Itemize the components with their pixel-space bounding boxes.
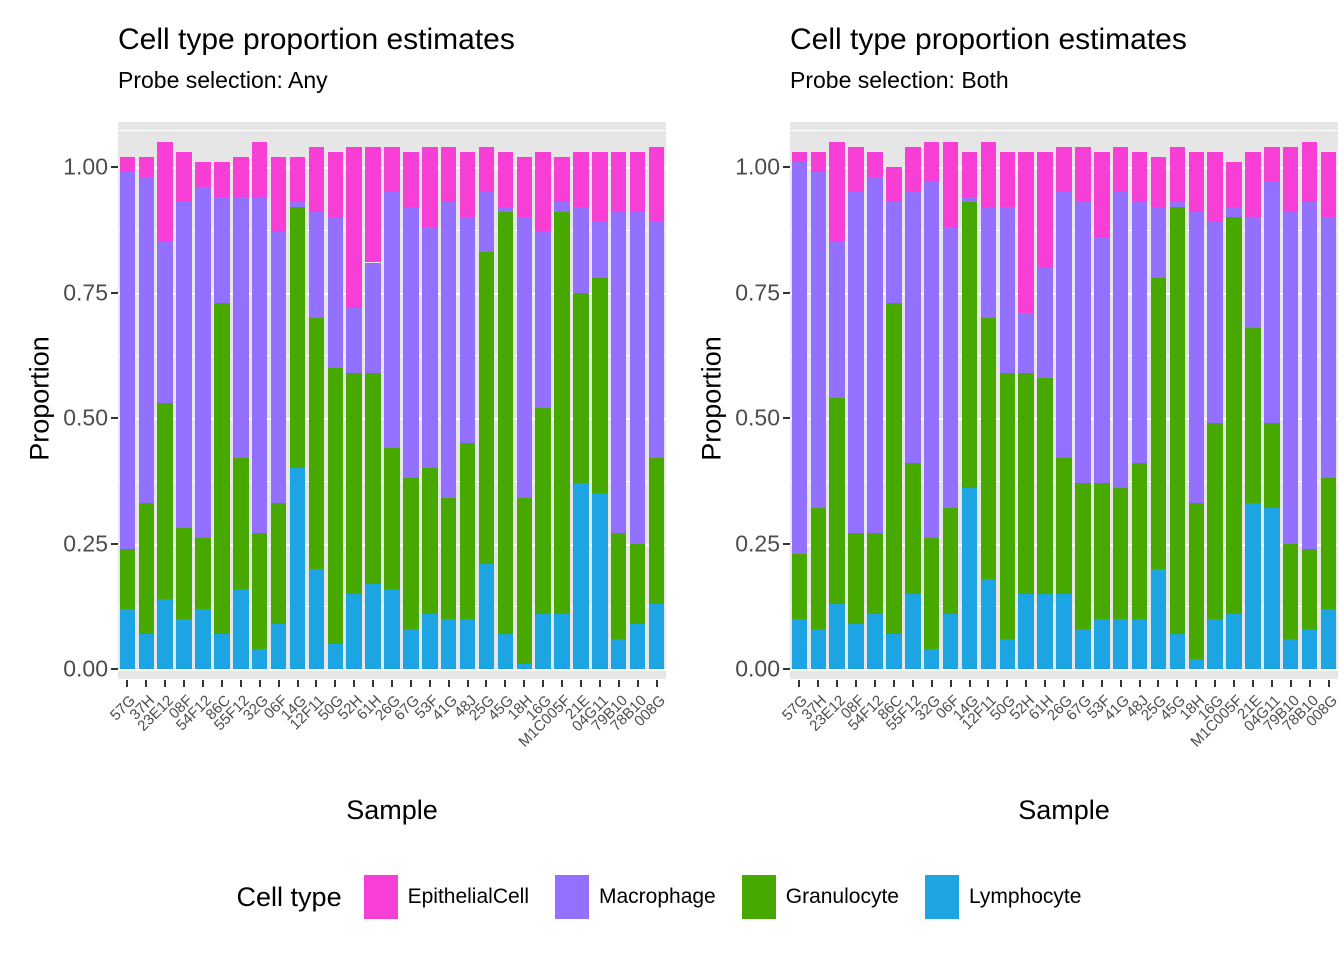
bar-stack[interactable] <box>157 122 172 679</box>
bar-segment-lymphocyte[interactable] <box>214 634 229 669</box>
bar-segment-epithelialcell[interactable] <box>1037 152 1052 267</box>
bar-stack[interactable] <box>924 122 939 679</box>
bar-segment-granulocyte[interactable] <box>792 554 807 619</box>
bar-segment-granulocyte[interactable] <box>1321 478 1336 608</box>
bar-stack[interactable] <box>792 122 807 679</box>
bar-segment-macrophage[interactable] <box>886 202 901 302</box>
bar-segment-lymphocyte[interactable] <box>829 604 844 669</box>
bar-segment-epithelialcell[interactable] <box>157 142 172 242</box>
legend-label: Lymphocyte <box>969 885 1081 909</box>
bar-stack[interactable] <box>1321 122 1336 679</box>
bar-segment-granulocyte[interactable] <box>592 278 607 494</box>
bar-segment-macrophage[interactable] <box>1170 202 1185 207</box>
bar-stack[interactable] <box>365 122 380 679</box>
bar-stack[interactable] <box>981 122 996 679</box>
bar-segment-macrophage[interactable] <box>962 197 977 202</box>
bar-segment-lymphocyte[interactable] <box>573 483 588 669</box>
bar-stack[interactable] <box>517 122 532 679</box>
bar-segment-macrophage[interactable] <box>848 192 863 533</box>
bar-segment-epithelialcell[interactable] <box>233 157 248 197</box>
bar-stack[interactable] <box>252 122 267 679</box>
bar-stack[interactable] <box>943 122 958 679</box>
bar-segment-macrophage[interactable] <box>441 202 456 498</box>
bar-segment-epithelialcell[interactable] <box>1056 147 1071 192</box>
bar-segment-lymphocyte[interactable] <box>905 594 920 669</box>
bar-stack[interactable] <box>905 122 920 679</box>
bar-stack[interactable] <box>811 122 826 679</box>
bar-segment-epithelialcell[interactable] <box>120 157 135 172</box>
bar-segment-lymphocyte[interactable] <box>1037 594 1052 669</box>
bar-segment-lymphocyte[interactable] <box>1132 619 1147 669</box>
bar-segment-macrophage[interactable] <box>811 172 826 508</box>
bar-segment-epithelialcell[interactable] <box>943 142 958 227</box>
bar-stack[interactable] <box>1075 122 1090 679</box>
bar-stack[interactable] <box>611 122 626 679</box>
bar-stack[interactable] <box>848 122 863 679</box>
bar-segment-epithelialcell[interactable] <box>811 152 826 172</box>
bar-segment-granulocyte[interactable] <box>460 443 475 619</box>
bar-segment-lymphocyte[interactable] <box>867 614 882 669</box>
bar-stack[interactable] <box>554 122 569 679</box>
bar-segment-epithelialcell[interactable] <box>924 142 939 182</box>
bar-segment-granulocyte[interactable] <box>981 318 996 579</box>
bar-segment-macrophage[interactable] <box>139 177 154 503</box>
bar-segment-macrophage[interactable] <box>867 177 882 533</box>
bar-segment-macrophage[interactable] <box>195 187 210 538</box>
bar-segment-granulocyte[interactable] <box>829 398 844 604</box>
bar-stack[interactable] <box>422 122 437 679</box>
bar-stack[interactable] <box>1170 122 1185 679</box>
bar-segment-epithelialcell[interactable] <box>498 152 513 207</box>
bar-segment-lymphocyte[interactable] <box>309 569 324 669</box>
bar-segment-lymphocyte[interactable] <box>1018 594 1033 669</box>
bar-segment-granulocyte[interactable] <box>365 373 380 584</box>
bar-stack[interactable] <box>384 122 399 679</box>
bar-stack[interactable] <box>962 122 977 679</box>
bar-segment-lymphocyte[interactable] <box>176 619 191 669</box>
bar-stack[interactable] <box>1151 122 1166 679</box>
bar-stack[interactable] <box>479 122 494 679</box>
bar-segment-epithelialcell[interactable] <box>309 147 324 212</box>
bar-segment-epithelialcell[interactable] <box>1075 147 1090 202</box>
bar-segment-macrophage[interactable] <box>829 242 844 398</box>
bar-segment-macrophage[interactable] <box>1283 212 1298 543</box>
bar-segment-lymphocyte[interactable] <box>1302 629 1317 669</box>
bar-segment-epithelialcell[interactable] <box>290 157 305 202</box>
bar-segment-granulocyte[interactable] <box>233 458 248 588</box>
bar-segment-macrophage[interactable] <box>1226 207 1241 217</box>
bar-segment-epithelialcell[interactable] <box>1321 152 1336 217</box>
bar-stack[interactable] <box>1094 122 1109 679</box>
bar-stack[interactable] <box>328 122 343 679</box>
bar-segment-lymphocyte[interactable] <box>479 564 494 669</box>
bar-segment-lymphocyte[interactable] <box>1283 639 1298 669</box>
bar-segment-epithelialcell[interactable] <box>554 157 569 202</box>
bar-segment-lymphocyte[interactable] <box>233 589 248 669</box>
bar-stack[interactable] <box>1113 122 1128 679</box>
bar-segment-macrophage[interactable] <box>479 192 494 252</box>
bar-segment-granulocyte[interactable] <box>309 318 324 569</box>
bar-segment-macrophage[interactable] <box>365 263 380 373</box>
bar-stack[interactable] <box>1132 122 1147 679</box>
bar-stack[interactable] <box>214 122 229 679</box>
bar-segment-granulocyte[interactable] <box>649 458 664 604</box>
bar-segment-macrophage[interactable] <box>924 182 939 538</box>
bar-stack[interactable] <box>1000 122 1015 679</box>
bar-segment-macrophage[interactable] <box>1245 217 1260 327</box>
bar-segment-lymphocyte[interactable] <box>1226 614 1241 669</box>
bar-segment-granulocyte[interactable] <box>1056 458 1071 593</box>
bar-stack[interactable] <box>441 122 456 679</box>
bar-segment-macrophage[interactable] <box>517 217 532 498</box>
bar-segment-epithelialcell[interactable] <box>535 152 550 232</box>
bar-segment-epithelialcell[interactable] <box>479 147 494 192</box>
bar-segment-macrophage[interactable] <box>649 222 664 458</box>
bar-segment-epithelialcell[interactable] <box>328 152 343 217</box>
bar-stack[interactable] <box>1056 122 1071 679</box>
bar-segment-lymphocyte[interactable] <box>1151 569 1166 669</box>
bar-segment-macrophage[interactable] <box>1321 217 1336 478</box>
bar-segment-macrophage[interactable] <box>1132 202 1147 463</box>
bar-segment-lymphocyte[interactable] <box>1075 629 1090 669</box>
bar-segment-macrophage[interactable] <box>498 207 513 212</box>
bar-segment-epithelialcell[interactable] <box>403 152 418 207</box>
bar-segment-lymphocyte[interactable] <box>365 584 380 669</box>
bar-segment-epithelialcell[interactable] <box>611 152 626 212</box>
bar-segment-lymphocyte[interactable] <box>981 579 996 669</box>
bar-segment-lymphocyte[interactable] <box>1170 634 1185 669</box>
bar-segment-lymphocyte[interactable] <box>252 649 267 669</box>
bar-segment-granulocyte[interactable] <box>1000 373 1015 639</box>
bar-segment-macrophage[interactable] <box>384 192 399 448</box>
bar-segment-lymphocyte[interactable] <box>271 624 286 669</box>
bar-segment-granulocyte[interactable] <box>1037 378 1052 594</box>
bar-segment-lymphocyte[interactable] <box>139 634 154 669</box>
bar-segment-lymphocyte[interactable] <box>517 664 532 669</box>
bar-segment-epithelialcell[interactable] <box>384 147 399 192</box>
bar-segment-lymphocyte[interactable] <box>962 488 977 669</box>
bar-segment-granulocyte[interactable] <box>535 408 550 614</box>
bar-segment-epithelialcell[interactable] <box>1189 152 1204 212</box>
bar-segment-lymphocyte[interactable] <box>792 619 807 669</box>
bar-segment-macrophage[interactable] <box>233 197 248 458</box>
bar-segment-granulocyte[interactable] <box>848 533 863 623</box>
bar-segment-epithelialcell[interactable] <box>848 147 863 192</box>
bar-stack[interactable] <box>346 122 361 679</box>
bar-segment-lymphocyte[interactable] <box>120 609 135 669</box>
bar-segment-lymphocyte[interactable] <box>630 624 645 669</box>
bar-segment-epithelialcell[interactable] <box>1302 142 1317 202</box>
bar-segment-granulocyte[interactable] <box>498 212 513 634</box>
bar-segment-epithelialcell[interactable] <box>592 152 607 222</box>
bar-segment-granulocyte[interactable] <box>811 508 826 628</box>
bar-segment-macrophage[interactable] <box>271 232 286 503</box>
bar-segment-lymphocyte[interactable] <box>403 629 418 669</box>
bar-segment-granulocyte[interactable] <box>403 478 418 629</box>
bar-segment-granulocyte[interactable] <box>271 503 286 623</box>
bar-segment-epithelialcell[interactable] <box>176 152 191 202</box>
bar-stack[interactable] <box>592 122 607 679</box>
bar-stack[interactable] <box>139 122 154 679</box>
bar-segment-epithelialcell[interactable] <box>1018 152 1033 313</box>
bar-segment-epithelialcell[interactable] <box>630 152 645 212</box>
bar-segment-macrophage[interactable] <box>535 232 550 408</box>
bar-segment-lymphocyte[interactable] <box>924 649 939 669</box>
bar-segment-lymphocyte[interactable] <box>1264 508 1279 669</box>
bar-segment-lymphocyte[interactable] <box>157 599 172 669</box>
bar-segment-epithelialcell[interactable] <box>1264 147 1279 182</box>
bar-segment-macrophage[interactable] <box>1264 182 1279 423</box>
bar-segment-granulocyte[interactable] <box>554 212 569 613</box>
bar-segment-macrophage[interactable] <box>176 202 191 528</box>
bar-segment-granulocyte[interactable] <box>1189 503 1204 659</box>
bar-stack[interactable] <box>1264 122 1279 679</box>
bar-segment-epithelialcell[interactable] <box>252 142 267 197</box>
bar-segment-epithelialcell[interactable] <box>365 147 380 262</box>
bar-segment-macrophage[interactable] <box>1207 222 1222 423</box>
bar-segment-macrophage[interactable] <box>1000 207 1015 373</box>
bar-segment-lymphocyte[interactable] <box>1113 619 1128 669</box>
bar-segment-granulocyte[interactable] <box>517 498 532 664</box>
bar-segment-granulocyte[interactable] <box>252 533 267 648</box>
bar-stack[interactable] <box>195 122 210 679</box>
bar-segment-granulocyte[interactable] <box>924 538 939 648</box>
y-tick-mark <box>111 166 118 168</box>
bar-segment-granulocyte[interactable] <box>905 463 920 593</box>
bar-segment-lymphocyte[interactable] <box>811 629 826 669</box>
bar-segment-epithelialcell[interactable] <box>214 162 229 197</box>
bar-segment-macrophage[interactable] <box>120 172 135 548</box>
bar-segment-granulocyte[interactable] <box>441 498 456 618</box>
bar-stack[interactable] <box>498 122 513 679</box>
bar-segment-macrophage[interactable] <box>1189 212 1204 503</box>
bar-segment-lymphocyte[interactable] <box>1094 619 1109 669</box>
bar-segment-granulocyte[interactable] <box>886 303 901 634</box>
bar-stack[interactable] <box>1302 122 1317 679</box>
bar-segment-macrophage[interactable] <box>157 242 172 403</box>
legend-item-macrophage[interactable]: Macrophage <box>555 875 716 919</box>
bar-segment-epithelialcell[interactable] <box>441 147 456 202</box>
bar-segment-epithelialcell[interactable] <box>195 162 210 187</box>
bar-segment-macrophage[interactable] <box>309 212 324 317</box>
bar-segment-epithelialcell[interactable] <box>905 147 920 192</box>
bar-segment-granulocyte[interactable] <box>1094 483 1109 618</box>
bar-segment-granulocyte[interactable] <box>422 468 437 614</box>
bar-stack[interactable] <box>829 122 844 679</box>
bar-segment-granulocyte[interactable] <box>1264 423 1279 508</box>
bar-segment-lymphocyte[interactable] <box>441 619 456 669</box>
bar-segment-lymphocyte[interactable] <box>535 614 550 669</box>
bar-segment-epithelialcell[interactable] <box>886 167 901 202</box>
bar-segment-macrophage[interactable] <box>1037 268 1052 378</box>
bar-segment-epithelialcell[interactable] <box>1283 147 1298 212</box>
bar-segment-lymphocyte[interactable] <box>592 493 607 669</box>
bar-stack[interactable] <box>460 122 475 679</box>
bar-segment-epithelialcell[interactable] <box>1245 152 1260 217</box>
bar-stack[interactable] <box>1245 122 1260 679</box>
bar-segment-epithelialcell[interactable] <box>829 142 844 242</box>
bar-stack[interactable] <box>1283 122 1298 679</box>
bar-segment-granulocyte[interactable] <box>611 533 626 638</box>
bar-segment-granulocyte[interactable] <box>1075 483 1090 629</box>
bar-segment-granulocyte[interactable] <box>1018 373 1033 594</box>
bar-segment-epithelialcell[interactable] <box>649 147 664 222</box>
bar-segment-lymphocyte[interactable] <box>611 639 626 669</box>
bar-stack[interactable] <box>649 122 664 679</box>
bar-segment-lymphocyte[interactable] <box>886 634 901 669</box>
bar-stack[interactable] <box>573 122 588 679</box>
bar-segment-epithelialcell[interactable] <box>867 152 882 177</box>
bar-segment-macrophage[interactable] <box>1018 313 1033 373</box>
y-tick-label: 0.25 <box>63 530 108 557</box>
bar-segment-epithelialcell[interactable] <box>1113 147 1128 192</box>
bar-stack[interactable] <box>309 122 324 679</box>
bar-segment-granulocyte[interactable] <box>1302 549 1317 629</box>
bar-segment-epithelialcell[interactable] <box>1132 152 1147 202</box>
bar-stack[interactable] <box>1018 122 1033 679</box>
bar-segment-macrophage[interactable] <box>252 197 267 533</box>
bar-segment-lymphocyte[interactable] <box>1189 659 1204 669</box>
bar-segment-macrophage[interactable] <box>290 202 305 207</box>
bar-segment-macrophage[interactable] <box>1056 192 1071 458</box>
bar-segment-granulocyte[interactable] <box>195 538 210 608</box>
bar-stack[interactable] <box>1037 122 1052 679</box>
bar-segment-epithelialcell[interactable] <box>573 152 588 207</box>
bar-segment-lymphocyte[interactable] <box>384 589 399 669</box>
bar-stack[interactable] <box>1189 122 1204 679</box>
bar-segment-macrophage[interactable] <box>214 197 229 302</box>
bar-segment-granulocyte[interactable] <box>157 403 172 599</box>
bar-stack[interactable] <box>233 122 248 679</box>
bar-segment-granulocyte[interactable] <box>384 448 399 589</box>
bar-segment-lymphocyte[interactable] <box>554 614 569 669</box>
bar-segment-granulocyte[interactable] <box>573 293 588 484</box>
bar-segment-epithelialcell[interactable] <box>517 157 532 217</box>
bar-segment-lymphocyte[interactable] <box>195 609 210 669</box>
bar-segment-lymphocyte[interactable] <box>1321 609 1336 669</box>
bar-segment-epithelialcell[interactable] <box>422 147 437 227</box>
bar-stack[interactable] <box>290 122 305 679</box>
bar-segment-granulocyte[interactable] <box>214 303 229 634</box>
bar-segment-granulocyte[interactable] <box>943 508 958 613</box>
bar-segment-epithelialcell[interactable] <box>346 147 361 308</box>
bar-segment-lymphocyte[interactable] <box>1245 503 1260 669</box>
bar-segment-granulocyte[interactable] <box>962 202 977 488</box>
bar-segment-macrophage[interactable] <box>346 308 361 373</box>
bar-segment-epithelialcell[interactable] <box>792 152 807 162</box>
bar-segment-granulocyte[interactable] <box>1132 463 1147 619</box>
legend-item-epithelialcell[interactable]: EpithelialCell <box>364 875 529 919</box>
bar-segment-macrophage[interactable] <box>905 192 920 463</box>
bar-segment-lymphocyte[interactable] <box>422 614 437 669</box>
legend-item-granulocyte[interactable]: Granulocyte <box>742 875 899 919</box>
bar-segment-granulocyte[interactable] <box>120 549 135 609</box>
bar-segment-macrophage[interactable] <box>573 207 588 292</box>
bar-segment-granulocyte[interactable] <box>1113 488 1128 618</box>
bar-stack[interactable] <box>535 122 550 679</box>
bar-segment-lymphocyte[interactable] <box>290 468 305 669</box>
bar-segment-granulocyte[interactable] <box>479 252 494 563</box>
bar-segment-epithelialcell[interactable] <box>1000 152 1015 207</box>
bar-segment-epithelialcell[interactable] <box>1226 162 1241 207</box>
bar-segment-macrophage[interactable] <box>1094 237 1109 483</box>
bar-segment-epithelialcell[interactable] <box>981 142 996 207</box>
bar-segment-lymphocyte[interactable] <box>1207 619 1222 669</box>
bar-segment-granulocyte[interactable] <box>1245 328 1260 504</box>
bar-segment-granulocyte[interactable] <box>139 503 154 633</box>
bar-segment-epithelialcell[interactable] <box>962 152 977 197</box>
bar-segment-macrophage[interactable] <box>422 227 437 468</box>
bar-stack[interactable] <box>120 122 135 679</box>
bar-segment-macrophage[interactable] <box>981 207 996 317</box>
bar-segment-macrophage[interactable] <box>611 212 626 533</box>
bar-segment-epithelialcell[interactable] <box>1151 157 1166 207</box>
x-tick-mark <box>410 680 412 687</box>
bar-stack[interactable] <box>867 122 882 679</box>
bar-segment-macrophage[interactable] <box>630 212 645 543</box>
bar-segment-granulocyte[interactable] <box>290 207 305 468</box>
bar-segment-lymphocyte[interactable] <box>1000 639 1015 669</box>
bar-segment-epithelialcell[interactable] <box>139 157 154 177</box>
bar-segment-lymphocyte[interactable] <box>1056 594 1071 669</box>
bar-segment-lymphocyte[interactable] <box>498 634 513 669</box>
bar-segment-macrophage[interactable] <box>943 227 958 508</box>
legend-item-lymphocyte[interactable]: Lymphocyte <box>925 875 1081 919</box>
bar-stack[interactable] <box>271 122 286 679</box>
bar-segment-granulocyte[interactable] <box>328 368 343 644</box>
bar-segment-granulocyte[interactable] <box>1226 217 1241 613</box>
bar-segment-epithelialcell[interactable] <box>1170 147 1185 202</box>
bar-segment-granulocyte[interactable] <box>1170 207 1185 634</box>
bar-stack[interactable] <box>1207 122 1222 679</box>
bar-segment-granulocyte[interactable] <box>630 544 645 624</box>
bar-stack[interactable] <box>403 122 418 679</box>
bar-stack[interactable] <box>1226 122 1241 679</box>
x-tick-mark <box>1006 680 1008 687</box>
bar-segment-epithelialcell[interactable] <box>1207 152 1222 222</box>
bar-segment-macrophage[interactable] <box>554 202 569 212</box>
bar-segment-macrophage[interactable] <box>1302 202 1317 548</box>
bar-segment-granulocyte[interactable] <box>346 373 361 594</box>
bar-segment-granulocyte[interactable] <box>1151 278 1166 569</box>
bar-segment-macrophage[interactable] <box>403 207 418 478</box>
bar-segment-epithelialcell[interactable] <box>271 157 286 232</box>
bar-segment-macrophage[interactable] <box>792 162 807 553</box>
bar-segment-granulocyte[interactable] <box>1283 544 1298 639</box>
bar-segment-macrophage[interactable] <box>1151 207 1166 277</box>
bar-segment-macrophage[interactable] <box>460 217 475 443</box>
bar-segment-macrophage[interactable] <box>1113 192 1128 488</box>
bar-segment-lymphocyte[interactable] <box>649 604 664 669</box>
bar-segment-macrophage[interactable] <box>1075 202 1090 483</box>
bar-segment-granulocyte[interactable] <box>867 533 882 613</box>
bar-segment-granulocyte[interactable] <box>176 528 191 618</box>
bar-segment-lymphocyte[interactable] <box>346 594 361 669</box>
bar-stack[interactable] <box>630 122 645 679</box>
bar-stack[interactable] <box>176 122 191 679</box>
bar-stack[interactable] <box>886 122 901 679</box>
bar-segment-lymphocyte[interactable] <box>943 614 958 669</box>
bar-segment-granulocyte[interactable] <box>1207 423 1222 619</box>
bar-segment-epithelialcell[interactable] <box>1094 152 1109 237</box>
bar-segment-macrophage[interactable] <box>592 222 607 277</box>
bar-segment-macrophage[interactable] <box>328 217 343 368</box>
bar-segment-lymphocyte[interactable] <box>848 624 863 669</box>
bar-segment-epithelialcell[interactable] <box>460 152 475 217</box>
bar-segment-lymphocyte[interactable] <box>460 619 475 669</box>
bar-segment-lymphocyte[interactable] <box>328 644 343 669</box>
x-tick-mark <box>1120 680 1122 687</box>
